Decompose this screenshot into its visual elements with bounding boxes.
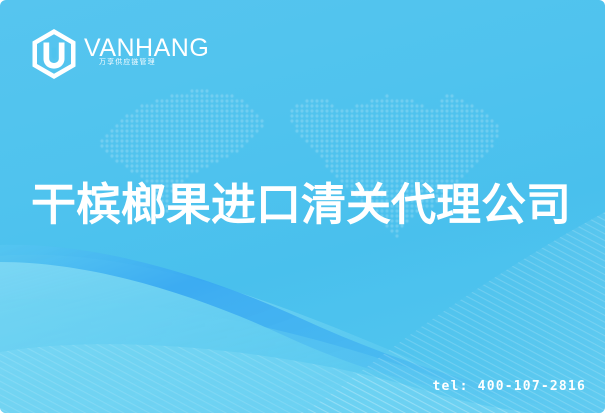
brand-wordmark-group: VANHANG 万享供应链管理 (84, 34, 196, 74)
brand-subtitle: 万享供应链管理 (99, 59, 156, 66)
promo-banner: VANHANG 万享供应链管理 干槟榔果进口清关代理公司 tel: 400-10… (0, 0, 605, 413)
page-title: 干槟榔果进口清关代理公司 (31, 181, 579, 228)
contact-telephone: tel: 400-107-2816 (433, 379, 586, 394)
brand-logo: VANHANG 万享供应链管理 (31, 29, 196, 79)
vanhang-hexagon-icon (31, 29, 77, 79)
